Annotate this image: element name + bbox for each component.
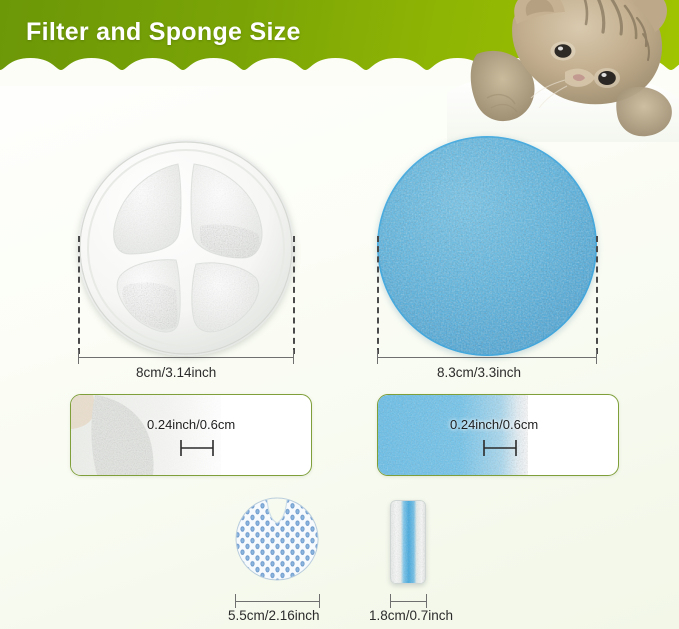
filter-dimension-line [78,357,294,358]
block-dimension-line [390,601,426,602]
mesh-dimension-line [235,601,319,602]
blue-sponge-disc [377,136,597,356]
sponge-dimension-cap-left [377,350,378,364]
sponge-width-label: 8.3cm/3.3inch [437,365,521,380]
sponge-thickness-label: 0.24inch/0.6cm [450,417,538,432]
sponge-thickness-callout: 0.24inch/0.6cm [377,394,619,476]
mesh-screen-disc [235,497,319,581]
filter-dimension-cap-left [78,350,79,364]
filter-dimension-cap-right [293,350,294,364]
block-dimension-cap-right [426,594,427,608]
mesh-width-label: 5.5cm/2.16inch [228,608,320,623]
sponge-thickness-marker [480,439,520,457]
filter-width-label: 8cm/3.14inch [136,365,216,380]
filter-guide-right [293,236,295,354]
page-title: Filter and Sponge Size [26,18,301,47]
mesh-dimension-cap-right [319,594,320,608]
sponge-guide-left [377,236,379,354]
sponge-closeup-photo [378,395,538,475]
carbon-filter-disc [78,140,294,356]
sponge-guide-right [596,236,598,354]
filter-thickness-callout: 0.24inch/0.6cm [70,394,312,476]
sponge-dimension-line [377,357,597,358]
block-width-label: 1.8cm/0.7inch [369,608,453,623]
filter-guide-left [78,236,80,354]
infographic-page: Filter and Sponge Size [0,0,679,629]
mesh-dimension-cap-left [235,594,236,608]
sponge-dimension-cap-right [596,350,597,364]
filter-thickness-marker [177,439,217,457]
cat-photo [447,0,679,142]
filter-closeup-photo [71,395,221,475]
sponge-block [390,500,426,584]
filter-thickness-label: 0.24inch/0.6cm [147,417,235,432]
block-dimension-cap-left [390,594,391,608]
